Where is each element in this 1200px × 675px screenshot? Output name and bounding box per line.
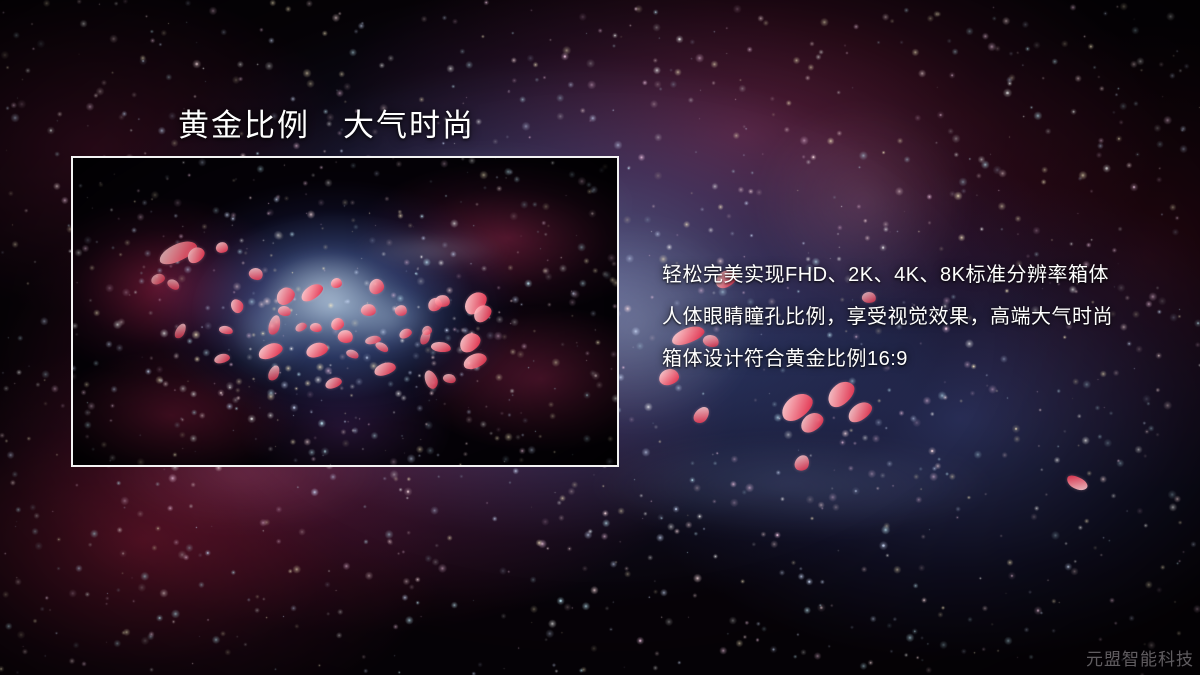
body-text-block: 轻松完美实现FHD、2K、4K、8K标准分辨率箱体 人体眼睛瞳孔比例，享受视觉效… [662,254,1182,380]
watermark: 元盟智能科技 [1086,645,1194,670]
photo-vignette [73,158,617,465]
body-text-line-1: 轻松完美实现FHD、2K、4K、8K标准分辨率箱体 [662,254,1182,296]
petal-shape [793,453,811,472]
petal-shape [797,409,826,435]
photo-image [73,158,617,465]
petal-shape [845,399,876,426]
petal-shape [1064,472,1089,493]
slide-canvas: 黄金比例 大气时尚 轻松完美实现FHD、2K、4K、8K标准分辨率箱体 人体眼睛… [0,0,1200,675]
framed-photo [71,156,619,467]
petal-shape [777,389,817,426]
body-text-line-3: 箱体设计符合黄金比例16:9 [662,338,1182,380]
petal-shape [691,404,712,426]
page-title: 黄金比例 大气时尚 [178,100,475,145]
petal-shape [823,377,859,411]
body-text-line-2: 人体眼睛瞳孔比例，享受视觉效果，高端大气时尚 [662,296,1182,338]
